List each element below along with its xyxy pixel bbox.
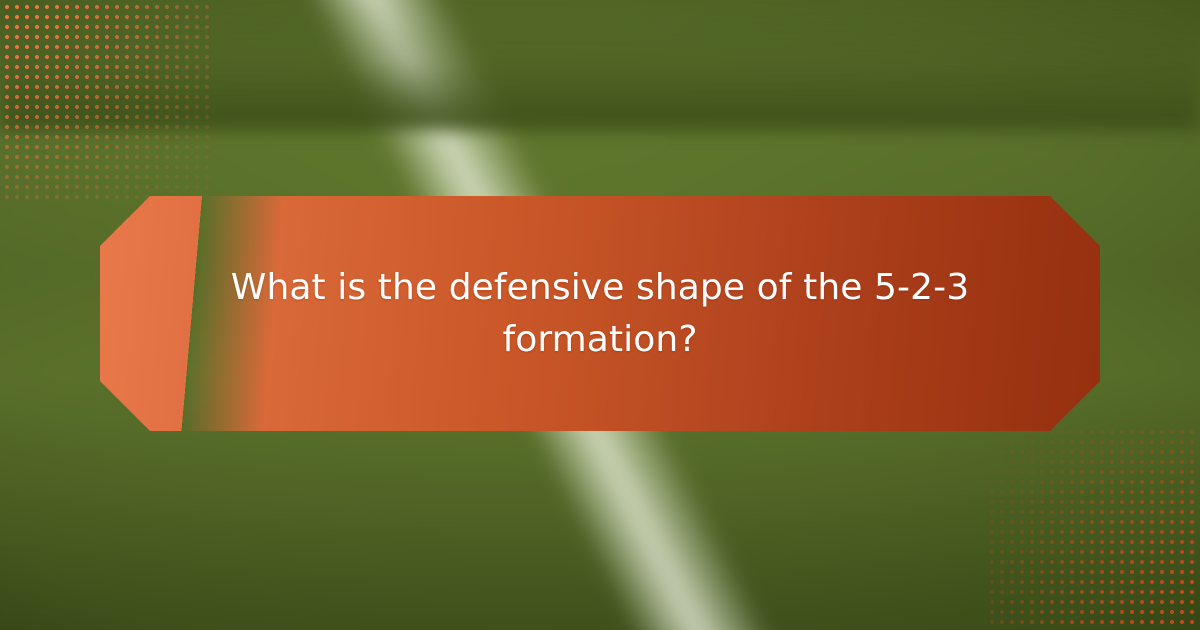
background-stadium-fade <box>0 0 1200 130</box>
question-banner: What is the defensive shape of the 5-2-3… <box>100 196 1100 431</box>
question-card-canvas: What is the defensive shape of the 5-2-3… <box>0 0 1200 630</box>
question-text: What is the defensive shape of the 5-2-3… <box>100 262 1100 366</box>
